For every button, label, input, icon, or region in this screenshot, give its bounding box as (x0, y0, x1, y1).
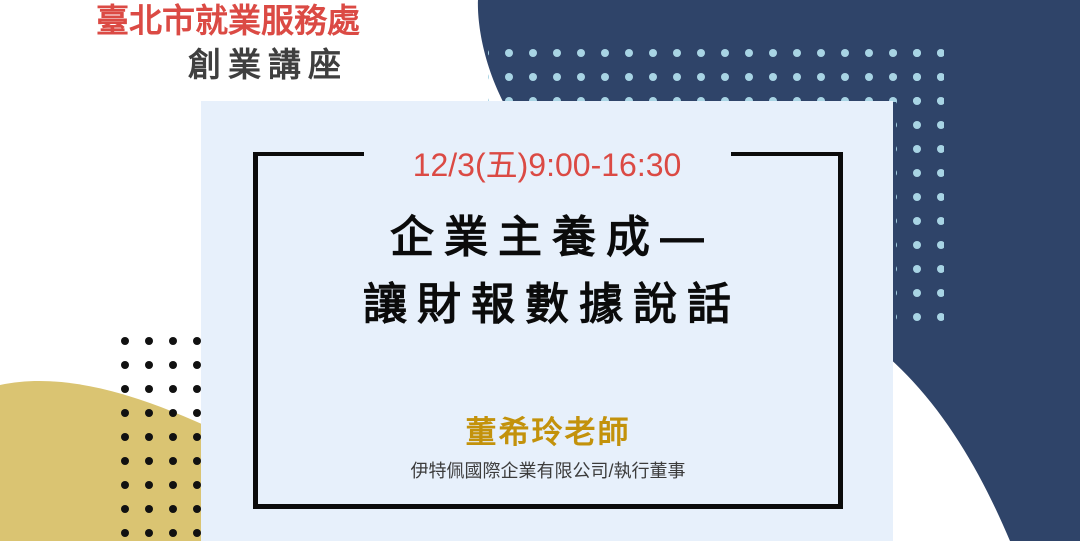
light-blue-dot-grid-right (896, 42, 944, 322)
series-title: 創業講座 (188, 46, 348, 85)
speaker-role: 伊特佩國際企業有限公司/執行董事 (253, 458, 843, 485)
poster-canvas: 臺北市就業服務處 創業講座 12/3(五)9:00-16:30 企業主養成— 讓… (0, 0, 1080, 541)
speaker-name: 董希玲老師 (253, 412, 843, 454)
event-title-line-2: 讓財報數據說話 (201, 272, 893, 339)
organization-title: 臺北市就業服務處 (96, 2, 360, 41)
speaker-block: 董希玲老師 伊特佩國際企業有限公司/執行董事 (253, 412, 843, 485)
black-dot-grid (110, 330, 210, 541)
event-datetime: 12/3(五)9:00-16:30 (201, 140, 893, 186)
event-title: 企業主養成— 讓財報數據說話 (201, 205, 893, 339)
light-blue-dot-grid-top (488, 42, 940, 102)
frame-bottom-edge (253, 504, 843, 509)
event-title-line-1: 企業主養成— (201, 205, 893, 272)
